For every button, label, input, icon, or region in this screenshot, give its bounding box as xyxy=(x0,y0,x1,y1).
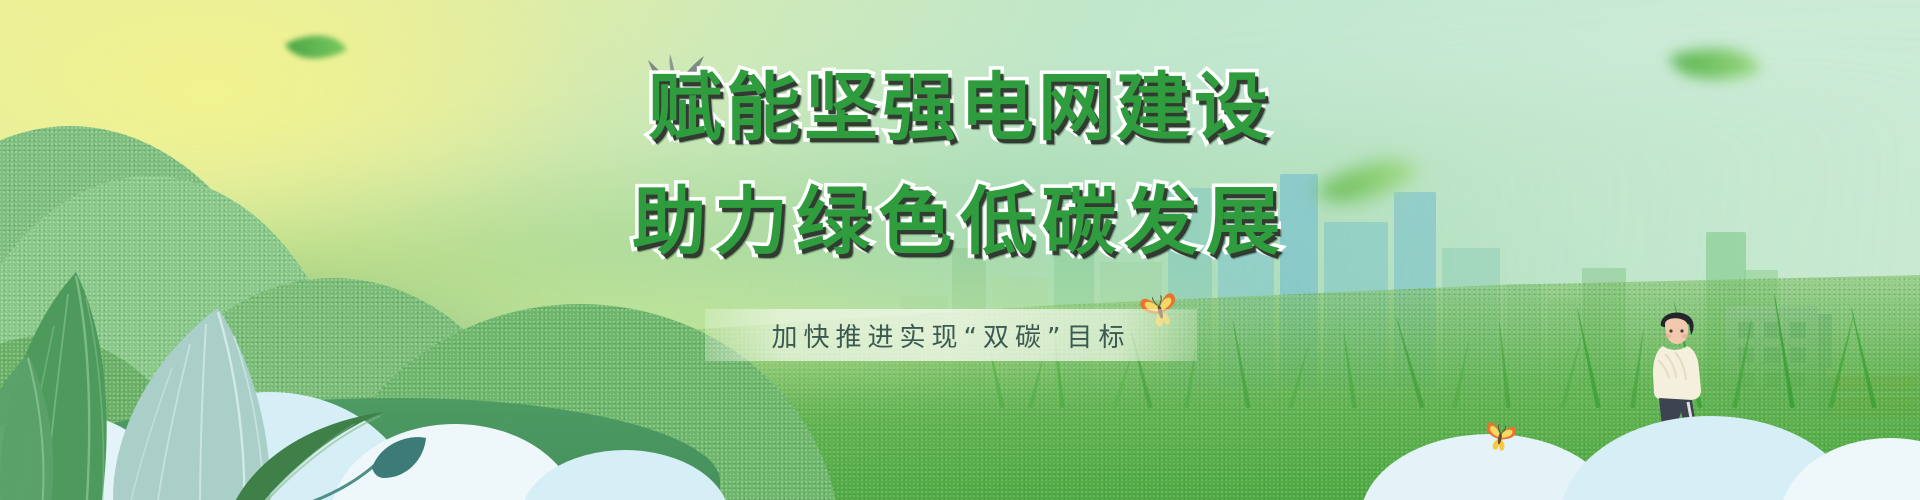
cloud-puff xyxy=(520,450,730,500)
big-leaf-dark-lower xyxy=(228,410,388,500)
green-grid-banner: 赋能坚强电网建设 助力绿色低碳发展 加快推进实现“双碳”目标 xyxy=(0,0,1920,500)
leaf-body xyxy=(0,354,53,500)
bird-body xyxy=(648,56,720,104)
butterfly-lower-icon xyxy=(1480,415,1520,459)
swallow-bird-icon xyxy=(640,52,730,114)
subtitle-text: 加快推进实现“双碳”目标 xyxy=(705,309,1197,361)
bird-wing xyxy=(669,54,676,90)
big-leaf-dark-thin xyxy=(0,352,80,500)
